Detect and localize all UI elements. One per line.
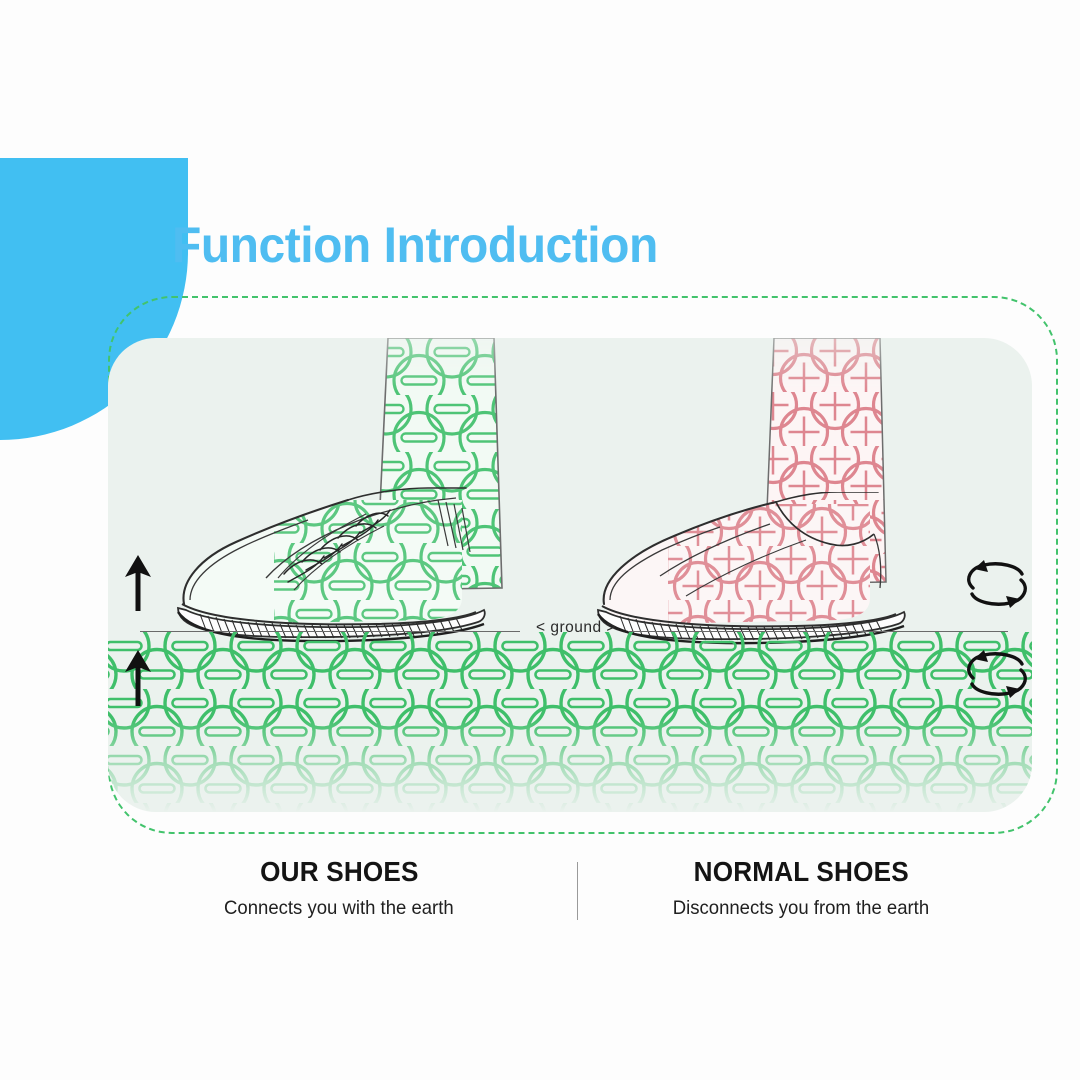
cycle-arrows-icon — [962, 648, 1032, 700]
illustration-panel — [108, 338, 1032, 812]
ground-line-right — [628, 631, 1008, 632]
page-title: Function Introduction — [172, 216, 658, 274]
slide-canvas: Function Introduction — [0, 0, 1080, 1080]
ground-negative-ion-pattern-left — [108, 632, 570, 812]
ground-label: < ground > — [520, 619, 632, 637]
caption-title: OUR SHOES — [260, 856, 418, 888]
left-illustration-our-shoes — [108, 338, 570, 812]
cycle-arrows-icon — [962, 558, 1032, 610]
up-arrow-icon — [118, 650, 158, 708]
caption-title: NORMAL SHOES — [693, 856, 908, 888]
our-shoe-sneaker-sketch — [166, 486, 496, 646]
caption-normal-shoes: NORMAL SHOES Disconnects you from the ea… — [570, 856, 1032, 936]
caption-subtitle: Connects you with the earth — [224, 897, 454, 920]
ground-line-left — [140, 631, 520, 632]
caption-our-shoes: OUR SHOES Connects you with the earth — [108, 856, 570, 936]
caption-subtitle: Disconnects you from the earth — [673, 897, 929, 920]
captions-row: OUR SHOES Connects you with the earth NO… — [108, 856, 1032, 936]
up-arrow-icon — [118, 555, 158, 613]
caption-divider — [577, 862, 578, 920]
normal-shoe-slipon-sketch — [590, 492, 910, 648]
